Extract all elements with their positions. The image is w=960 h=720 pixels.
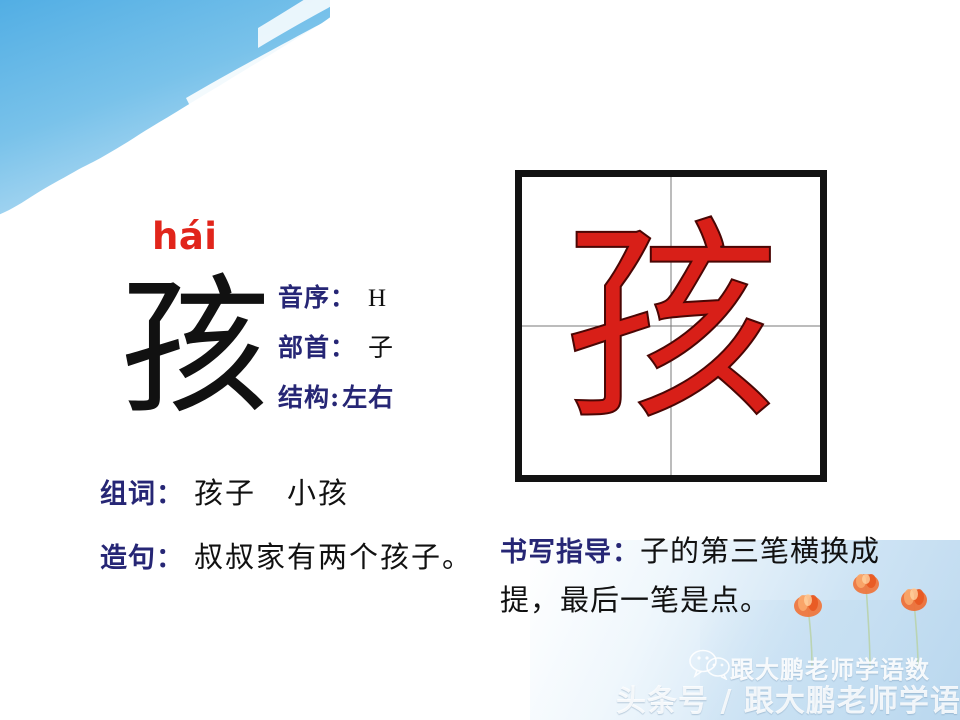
watermark-toutiao: 头条号 / 跟大鹏老师学语数	[616, 676, 960, 720]
grid-character-red: 孩	[522, 177, 820, 475]
writing-guidance-label: 书写指导：	[500, 537, 640, 568]
row-label-zuci: 组词：	[100, 472, 184, 511]
attribute-row-bushou: 部首： 子	[278, 328, 508, 378]
attribute-value-jiegou: 左右	[342, 378, 394, 414]
row-label-zaoju: 造句：	[100, 536, 184, 575]
attribute-list: 音序： H 部首： 子 结构: 左右	[278, 278, 508, 428]
row-zuci: 组词： 孩子 小孩	[100, 470, 520, 512]
attribute-row-jiegou: 结构: 左右	[278, 378, 508, 428]
attribute-row-yinxu: 音序： H	[278, 278, 508, 328]
top-left-sky-gradient	[0, 0, 330, 215]
pinyin-text: hái	[152, 218, 218, 255]
attribute-label-bushou: 部首：	[278, 328, 356, 364]
attribute-label-yinxu: 音序：	[278, 278, 356, 314]
brush-stroke-icon	[0, 0, 350, 240]
row-zaoju: 造句： 叔叔家有两个孩子。	[100, 534, 520, 576]
slide-canvas: hái 孩 音序： H 部首： 子 结构: 左右 组词： 孩子 小孩 造句： 叔…	[0, 0, 960, 720]
row-body-zuci: 孩子 小孩	[194, 470, 349, 512]
main-character: 孩	[110, 268, 280, 433]
writing-guidance-block: 书写指导：子的第三笔横换成提，最后一笔是点。	[500, 528, 930, 626]
writing-guidance-text: 书写指导：子的第三笔横换成提，最后一笔是点。	[500, 528, 930, 626]
wechat-icon	[688, 648, 732, 680]
character-grid-box: 孩	[515, 170, 827, 482]
word-and-sentence-block: 组词： 孩子 小孩 造句： 叔叔家有两个孩子。	[100, 470, 520, 598]
watermark-wechat: 跟大鹏老师学语数	[730, 650, 930, 685]
row-body-zaoju: 叔叔家有两个孩子。	[194, 534, 473, 576]
attribute-value-yinxu: H	[368, 285, 387, 313]
attribute-label-jiegou: 结构:	[278, 378, 340, 414]
attribute-value-bushou: 子	[368, 328, 394, 364]
